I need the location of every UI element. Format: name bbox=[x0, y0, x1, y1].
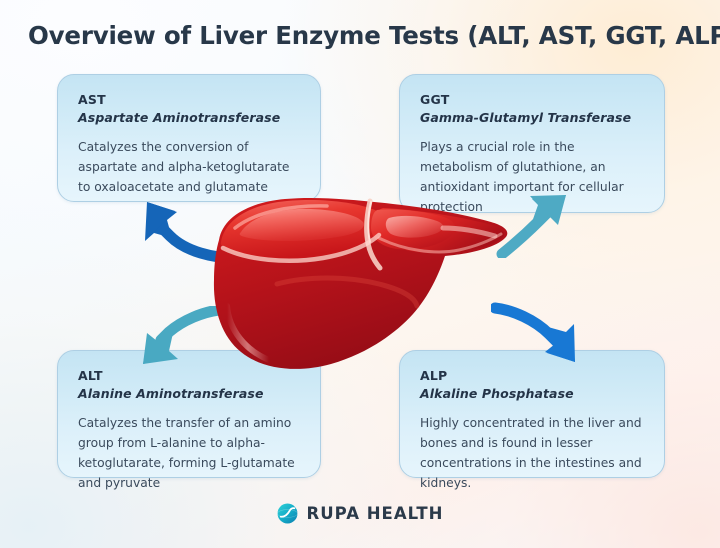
enzyme-fullname-alt: Alanine Aminotransferase bbox=[78, 385, 302, 403]
brand-name: RUPA HEALTH bbox=[307, 504, 444, 523]
enzyme-description-alt: Catalyzes the transfer of an amino group… bbox=[78, 414, 302, 494]
enzyme-fullname-alp: Alkaline Phosphatase bbox=[420, 385, 646, 403]
enzyme-abbr-ast: AST bbox=[78, 91, 302, 109]
page-title: Overview of Liver Enzyme Tests (ALT, AST… bbox=[28, 21, 696, 50]
infographic-canvas: Overview of Liver Enzyme Tests (ALT, AST… bbox=[0, 0, 720, 548]
brand-footer: RUPA HEALTH bbox=[0, 503, 720, 524]
enzyme-fullname-ggt: Gamma-Glutamyl Transferase bbox=[420, 109, 646, 127]
enzyme-description-alp: Highly concentrated in the liver and bon… bbox=[420, 414, 646, 494]
enzyme-abbr-ggt: GGT bbox=[420, 91, 646, 109]
enzyme-card-ast: AST Aspartate Aminotransferase Catalyzes… bbox=[57, 74, 321, 202]
liver-illustration bbox=[207, 188, 513, 373]
rupa-globe-icon bbox=[277, 503, 298, 524]
enzyme-fullname-ast: Aspartate Aminotransferase bbox=[78, 109, 302, 127]
